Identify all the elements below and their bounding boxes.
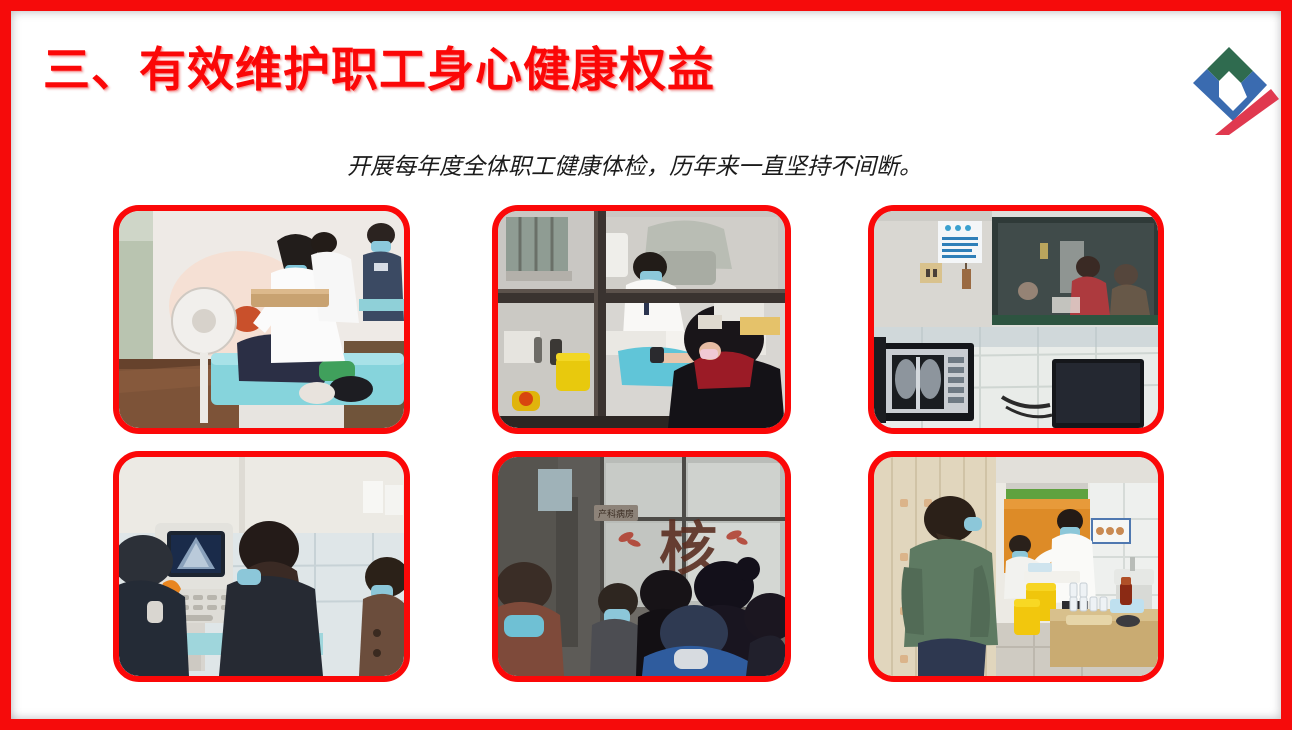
photo-4-ultrasound-room[interactable] (113, 451, 410, 682)
photo-4-image (119, 457, 404, 676)
svg-text:产科病房: 产科病房 (598, 508, 634, 520)
photo-1-image (119, 211, 404, 428)
photo-3-xray-room[interactable] (868, 205, 1164, 434)
presentation-slide: 三、有效维护职工身心健康权益 开展每年度全体职工健康体检，历年来一直坚持不间断。 (0, 0, 1292, 730)
photo-2-image (498, 211, 785, 428)
photo-5-image: 产科病房 核 (498, 457, 785, 676)
slide-canvas: 三、有效维护职工身心健康权益 开展每年度全体职工健康体检，历年来一直坚持不间断。 (11, 11, 1281, 719)
photo-6-image (874, 457, 1158, 676)
photo-grid: 产科病房 核 (11, 11, 1281, 719)
photo-3-image (874, 211, 1158, 428)
photo-2-blood-draw-window[interactable] (492, 205, 791, 434)
photo-6-specimen-collection[interactable] (868, 451, 1164, 682)
photo-5-waiting-area[interactable]: 产科病房 核 (492, 451, 791, 682)
photo-1-medical-exam[interactable] (113, 205, 410, 434)
